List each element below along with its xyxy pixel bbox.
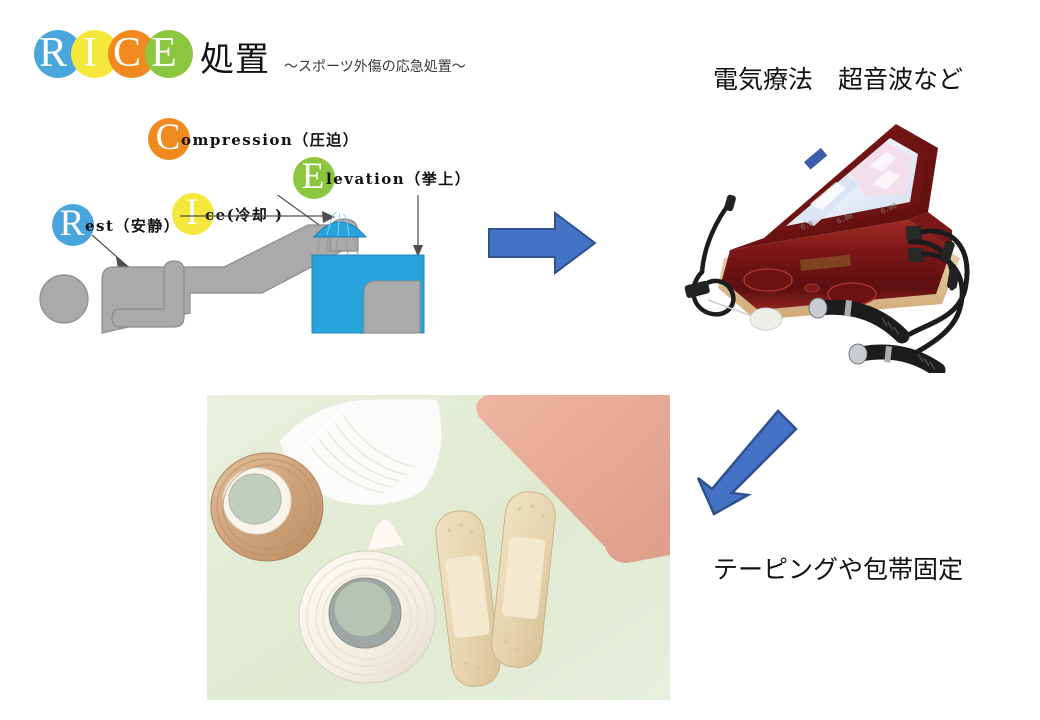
device-power-button[interactable] — [805, 284, 819, 292]
diagram-ice-pack — [314, 222, 366, 237]
title-kanji: 処置 — [200, 32, 270, 81]
rice-logo-circle-e: E — [145, 30, 193, 78]
rest-leader-line — [92, 235, 126, 265]
rice-logo-letter-i: I — [83, 32, 97, 74]
compression-label: ompression（圧迫） — [181, 129, 359, 150]
arrow-down-left-icon — [690, 405, 800, 520]
rice-acronym-logo: R I C E — [34, 30, 192, 82]
device-cable-left-connector — [684, 280, 710, 298]
device-cable-left-ferrite — [724, 194, 737, 212]
rice-body-diagram — [30, 195, 450, 340]
elevation-label: levation（挙上） — [326, 168, 471, 189]
taping-supplies-photo — [207, 395, 670, 700]
title-subtitle: 〜スポーツ外傷の応急処置〜 — [284, 56, 466, 78]
elevation-badge-letter: E — [302, 158, 325, 195]
diagram-head — [40, 275, 88, 323]
device-knob-left[interactable] — [744, 269, 792, 291]
electrotherapy-device-photo: 0.0 0.00 0.00 — [660, 108, 995, 373]
rice-item-compression: C ompression（圧迫） — [148, 118, 359, 160]
arrow-right-icon — [487, 209, 597, 277]
rice-item-elevation: E levation（挙上） — [293, 157, 471, 199]
device-electrode-pad — [750, 308, 782, 330]
rice-logo-letter-c: C — [113, 32, 141, 74]
rice-logo-letter-e: E — [151, 32, 177, 74]
photo-tan-bandage-roll — [211, 453, 323, 561]
taping-photo-svg — [207, 395, 670, 700]
diagram-block-notch — [364, 281, 420, 333]
rice-logo-letter-r: R — [39, 32, 67, 74]
slide-canvas: R I C E 処置 〜スポーツ外傷の応急処置〜 C ompression（圧迫… — [0, 0, 1040, 720]
heading-electrotherapy: 電気療法 超音波など — [713, 60, 963, 96]
device-cable-left — [693, 200, 733, 314]
heading-taping: テーピングや包帯固定 — [713, 550, 963, 586]
page-title: R I C E 処置 〜スポーツ外傷の応急処置〜 — [34, 28, 466, 84]
compression-badge-letter: C — [156, 119, 181, 156]
